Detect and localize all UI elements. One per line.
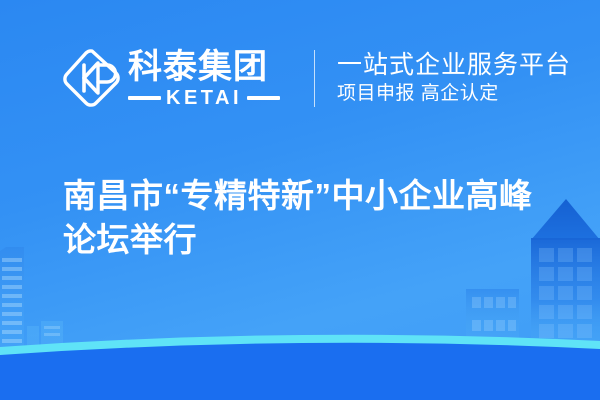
wordmark-rule-left [128, 96, 161, 100]
brand-header: 科泰集团 KETAI 一站式企业服务平台 项目申报 高企认定 [62, 40, 571, 116]
promo-banner: 科泰集团 KETAI 一站式企业服务平台 项目申报 高企认定 南昌市“专精特新”… [0, 0, 600, 400]
article-headline: 南昌市“专精特新”中小企业高峰论坛举行 [63, 174, 563, 262]
brand-name-en: KETAI [161, 88, 247, 108]
ketai-kp-monogram-icon [62, 47, 122, 109]
header-divider [314, 50, 315, 107]
skyline-left-low-blocks [27, 321, 63, 352]
brand-wordmark: 科泰集团 KETAI [128, 44, 280, 112]
tagline-main: 一站式企业服务平台 [337, 50, 571, 80]
brand-name-cn: 科泰集团 [128, 49, 280, 85]
tagline-sub: 项目申报 高企认定 [337, 82, 571, 106]
tagline-block: 一站式企业服务平台 项目申报 高企认定 [337, 44, 571, 112]
wordmark-rule-right [247, 96, 280, 100]
footer-arc-decoration [0, 335, 600, 400]
brand-name-en-row: KETAI [128, 88, 280, 108]
skyline-left-tower [0, 247, 24, 352]
skyline-mid-building [466, 289, 519, 352]
